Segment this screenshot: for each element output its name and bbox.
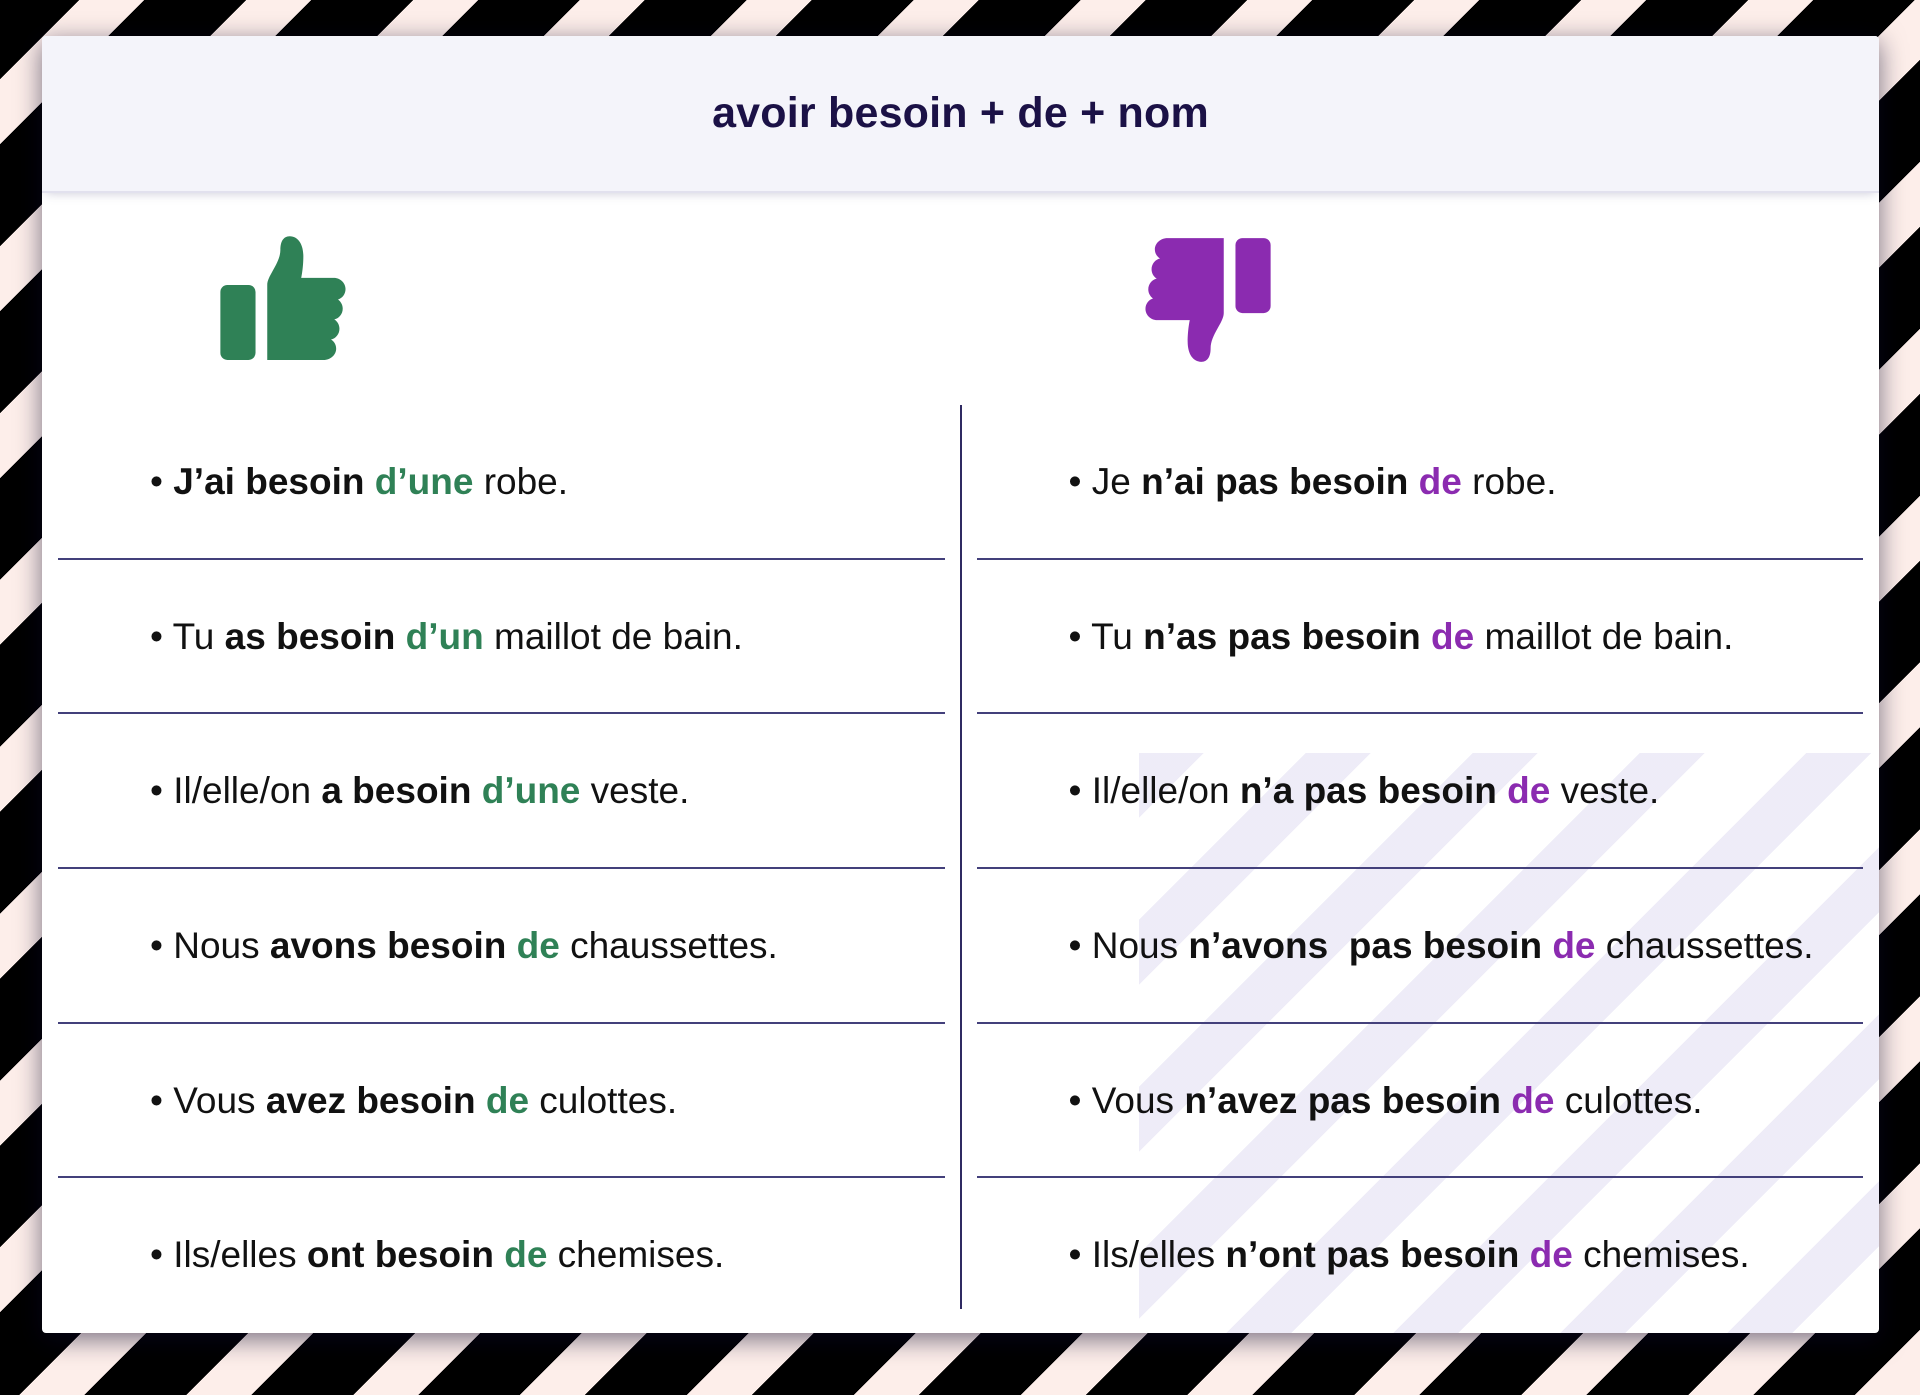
page-title: avoir besoin + de + nom: [712, 89, 1209, 138]
sentence-table: • J’ai besoin d’une robe. • Je n’ai pas …: [42, 405, 1879, 1333]
icon-row: [42, 193, 1879, 405]
table-row: • J’ai besoin d’une robe. • Je n’ai pas …: [42, 405, 1879, 560]
accent-part: de: [517, 925, 560, 966]
accent-part: de: [1419, 461, 1462, 502]
affirmative-cell: • Il/elle/on a besoin d’une veste.: [42, 714, 961, 869]
sentence-negative: • Il/elle/on n’a pas besoin de veste.: [1069, 770, 1660, 813]
accent-part: de: [486, 1080, 529, 1121]
affirmative-cell: • J’ai besoin d’une robe.: [42, 405, 961, 560]
affirmative-cell: • Ils/elles ont besoin de chemises.: [42, 1178, 961, 1333]
negative-cell: • Tu n’as pas besoin de maillot de bain.: [961, 560, 1880, 715]
accent-part: d’une: [482, 770, 581, 811]
accent-part: de: [1511, 1080, 1554, 1121]
table-row: • Vous avez besoin de culottes. • Vous n…: [42, 1024, 1879, 1179]
bold-part: J’ai besoin: [173, 461, 375, 502]
bold-part: avons besoin: [270, 925, 517, 966]
negative-cell: • Il/elle/on n’a pas besoin de veste.: [961, 714, 1880, 869]
plain-prefix: Nous: [173, 925, 270, 966]
plain-prefix: Tu: [1091, 616, 1143, 657]
plain-part: chemises.: [1573, 1234, 1750, 1275]
card-body: • J’ai besoin d’une robe. • Je n’ai pas …: [42, 193, 1879, 1333]
plain-part: chaussettes.: [1596, 925, 1814, 966]
bold-part: avez besoin: [266, 1080, 486, 1121]
accent-part: d’un: [406, 616, 484, 657]
bold-part: n’ont pas besoin: [1225, 1234, 1529, 1275]
bold-part: as besoin: [225, 616, 406, 657]
bullet: •: [150, 1080, 173, 1121]
sentence-affirmative: • Il/elle/on a besoin d’une veste.: [150, 770, 689, 813]
bold-part: n’avez pas besoin: [1184, 1080, 1511, 1121]
plain-part: robe.: [1462, 461, 1557, 502]
bold-part: n’a pas besoin: [1240, 770, 1507, 811]
plain-prefix: Ils/elles: [173, 1234, 307, 1275]
plain-prefix: Nous: [1092, 925, 1189, 966]
table-row: • Ils/elles ont besoin de chemises. • Il…: [42, 1178, 1879, 1333]
plain-part: chaussettes.: [560, 925, 778, 966]
bullet: •: [1069, 1234, 1092, 1275]
plain-prefix: Il/elle/on: [173, 770, 321, 811]
negative-cell: • Nous n’avons pas besoin de chaussettes…: [961, 869, 1880, 1024]
plain-prefix: Je: [1092, 461, 1141, 502]
sentence-negative: • Je n’ai pas besoin de robe.: [1069, 461, 1557, 504]
negative-cell: • Vous n’avez pas besoin de culottes.: [961, 1024, 1880, 1179]
bullet: •: [1069, 461, 1092, 502]
plain-part: veste.: [580, 770, 689, 811]
bullet: •: [1069, 616, 1092, 657]
sentence-negative: • Tu n’as pas besoin de maillot de bain.: [1069, 616, 1734, 659]
bullet: •: [1069, 770, 1092, 811]
bullet: •: [150, 461, 173, 502]
affirmative-cell: • Nous avons besoin de chaussettes.: [42, 869, 961, 1024]
accent-part: d’une: [375, 461, 474, 502]
plain-prefix: Vous: [173, 1080, 266, 1121]
bullet: •: [1069, 925, 1092, 966]
negative-cell: • Ils/elles n’ont pas besoin de chemises…: [961, 1178, 1880, 1333]
plain-part: chemises.: [547, 1234, 724, 1275]
affirmative-cell: • Tu as besoin d’un maillot de bain.: [42, 560, 961, 715]
plain-part: maillot de bain.: [1474, 616, 1733, 657]
plain-prefix: Ils/elles: [1092, 1234, 1226, 1275]
bullet: •: [150, 1234, 173, 1275]
table-row: • Nous avons besoin de chaussettes. • No…: [42, 869, 1879, 1024]
sentence-affirmative: • Nous avons besoin de chaussettes.: [150, 925, 778, 968]
sentence-affirmative: • Vous avez besoin de culottes.: [150, 1080, 677, 1123]
sentence-affirmative: • J’ai besoin d’une robe.: [150, 461, 568, 504]
sentence-negative: • Ils/elles n’ont pas besoin de chemises…: [1069, 1234, 1750, 1277]
negative-cell: • Je n’ai pas besoin de robe.: [961, 405, 1880, 560]
plain-part: veste.: [1550, 770, 1659, 811]
sentence-negative: • Vous n’avez pas besoin de culottes.: [1069, 1080, 1703, 1123]
negative-column-header: [961, 193, 1880, 405]
sentence-affirmative: • Tu as besoin d’un maillot de bain.: [150, 616, 743, 659]
bullet: •: [150, 770, 173, 811]
plain-prefix: Tu: [173, 616, 225, 657]
table-row: • Il/elle/on a besoin d’une veste. • Il/…: [42, 714, 1879, 869]
plain-prefix: Vous: [1092, 1080, 1185, 1121]
plain-part: robe.: [473, 461, 568, 502]
plain-part: culottes.: [529, 1080, 677, 1121]
bold-part: a besoin: [321, 770, 481, 811]
grammar-card: avoir besoin + de + nom: [42, 36, 1879, 1333]
card-header: avoir besoin + de + nom: [42, 36, 1879, 193]
table-row: • Tu as besoin d’un maillot de bain. • T…: [42, 560, 1879, 715]
bold-part: n’avons pas besoin: [1188, 925, 1552, 966]
bullet: •: [1069, 1080, 1092, 1121]
accent-part: de: [1552, 925, 1595, 966]
accent-part: de: [1507, 770, 1550, 811]
plain-part: culottes.: [1554, 1080, 1702, 1121]
bold-part: n’as pas besoin: [1143, 616, 1431, 657]
affirmative-cell: • Vous avez besoin de culottes.: [42, 1024, 961, 1179]
plain-prefix: Il/elle/on: [1092, 770, 1240, 811]
sentence-affirmative: • Ils/elles ont besoin de chemises.: [150, 1234, 724, 1277]
bullet: •: [150, 925, 173, 966]
bullet: •: [150, 616, 173, 657]
accent-part: de: [1530, 1234, 1573, 1275]
plain-part: maillot de bain.: [484, 616, 743, 657]
bold-part: ont besoin: [307, 1234, 504, 1275]
thumbs-up-icon: [211, 224, 361, 374]
sentence-negative: • Nous n’avons pas besoin de chaussettes…: [1069, 925, 1814, 968]
affirmative-column-header: [42, 193, 961, 405]
accent-part: de: [1431, 616, 1474, 657]
thumbs-down-icon: [1130, 224, 1280, 374]
accent-part: de: [504, 1234, 547, 1275]
bold-part: n’ai pas besoin: [1141, 461, 1419, 502]
